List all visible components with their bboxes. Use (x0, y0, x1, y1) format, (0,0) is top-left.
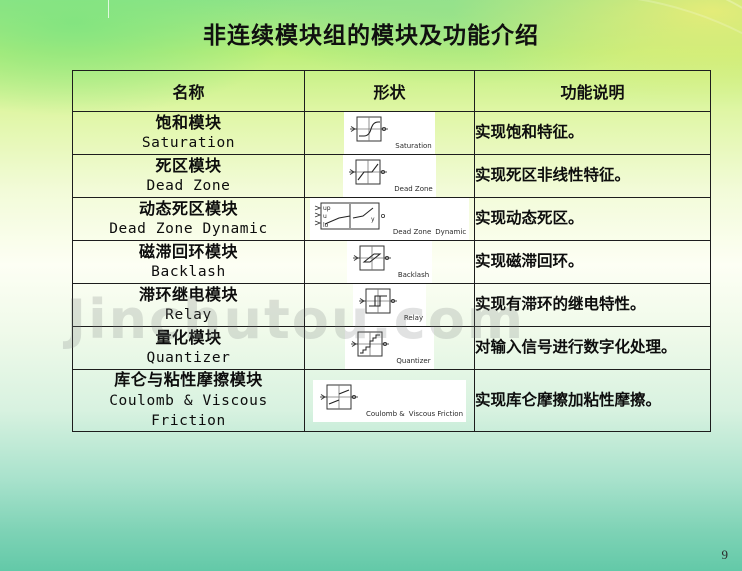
block-description-cell: 实现库仑摩擦加粘性摩擦。 (475, 370, 711, 432)
block-name-cn: 量化模块 (73, 328, 304, 348)
block-description-cell: 实现死区非线性特征。 (475, 155, 711, 198)
coulomb-viscous-friction-block: Coulomb & Viscous Friction (313, 380, 466, 422)
dead-zone-block: Dead Zone (343, 155, 435, 197)
block-icon-caption: Dead Zone (394, 185, 432, 193)
svg-text:y: y (371, 216, 375, 223)
block-name-cell: 滞环继电模块 Relay (73, 284, 305, 327)
block-name-cell: 动态死区模块 Dead Zone Dynamic (73, 198, 305, 241)
table-row: 动态死区模块 Dead Zone Dynamic up (73, 198, 711, 241)
saturation-block: Saturation (344, 112, 435, 154)
slide-canvas: 非连续模块组的模块及功能介绍 名称 形状 功能说明 饱和模块 Saturatio… (0, 0, 742, 571)
svg-text:u: u (323, 213, 327, 220)
block-icon-caption-line2: Viscous Friction (409, 410, 463, 418)
block-name-cn: 死区模块 (73, 156, 304, 176)
block-name-en: Dead Zone Dynamic (73, 220, 304, 239)
table-header-row: 名称 形状 功能说明 (73, 71, 711, 112)
block-icon-caption-line2: Dynamic (435, 228, 466, 236)
block-icon-caption: Saturation (395, 142, 432, 150)
block-icon-caption: Dead Zone (393, 228, 431, 236)
backlash-block-icon (350, 264, 398, 281)
block-name-en: Relay (73, 306, 304, 325)
block-description-cell: 对输入信号进行数字化处理。 (475, 327, 711, 370)
blocks-table: 名称 形状 功能说明 饱和模块 Saturation (72, 70, 711, 432)
table-row: 滞环继电模块 Relay (73, 284, 711, 327)
block-name-en: Coulomb & Viscous (73, 392, 304, 411)
column-header-name: 名称 (73, 71, 305, 112)
block-shape-cell: up u lo y Dead Zone (305, 198, 475, 241)
column-header-shape: 形状 (305, 71, 475, 112)
saturation-block-icon (347, 135, 395, 152)
block-icon-caption: Coulomb & (366, 410, 405, 418)
table-row: 饱和模块 Saturation (73, 112, 711, 155)
block-name-cn: 库仑与粘性摩擦模块 (73, 370, 304, 390)
dead-zone-dynamic-block-icon: up u lo y (313, 221, 393, 238)
dead-zone-dynamic-block: up u lo y Dead Zone (310, 198, 469, 240)
block-shape-cell: Coulomb & Viscous Friction (305, 370, 475, 432)
block-icon-caption: Relay (404, 314, 423, 322)
coulomb-viscous-friction-block-icon (316, 403, 366, 420)
table-row: 量化模块 Quantizer (73, 327, 711, 370)
blocks-table-wrapper: 名称 形状 功能说明 饱和模块 Saturation (72, 70, 710, 432)
block-name-en-line2: Friction (73, 412, 304, 431)
table-row: 库仑与粘性摩擦模块 Coulomb & Viscous Friction (73, 370, 711, 432)
svg-text:up: up (323, 205, 331, 212)
quantizer-block-icon (348, 350, 396, 367)
block-name-cell: 磁滞回环模块 Backlash (73, 241, 305, 284)
block-description-cell: 实现磁滞回环。 (475, 241, 711, 284)
block-name-cn: 动态死区模块 (73, 199, 304, 219)
block-description-cell: 实现饱和特征。 (475, 112, 711, 155)
block-name-cell: 死区模块 Dead Zone (73, 155, 305, 198)
block-shape-cell: Relay (305, 284, 475, 327)
block-description-cell: 实现有滞环的继电特性。 (475, 284, 711, 327)
table-row: 磁滞回环模块 Backlash (73, 241, 711, 284)
block-shape-cell: Quantizer (305, 327, 475, 370)
block-name-cn: 滞环继电模块 (73, 285, 304, 305)
block-icon-caption: Backlash (398, 271, 429, 279)
block-name-cn: 磁滞回环模块 (73, 242, 304, 262)
relay-block-icon (356, 307, 404, 324)
block-shape-cell: Dead Zone (305, 155, 475, 198)
page-number: 9 (722, 547, 729, 563)
block-icon-caption: Quantizer (396, 357, 430, 365)
quantizer-block: Quantizer (345, 327, 433, 369)
relay-block: Relay (353, 284, 426, 326)
block-name-en: Backlash (73, 263, 304, 282)
block-name-en: Dead Zone (73, 177, 304, 196)
block-name-en: Saturation (73, 134, 304, 153)
block-description-cell: 实现动态死区。 (475, 198, 711, 241)
block-shape-cell: Saturation (305, 112, 475, 155)
block-name-cn: 饱和模块 (73, 113, 304, 133)
page-title: 非连续模块组的模块及功能介绍 (0, 16, 742, 50)
backlash-block: Backlash (347, 241, 432, 283)
block-name-cell: 库仑与粘性摩擦模块 Coulomb & Viscous Friction (73, 370, 305, 432)
block-shape-cell: Backlash (305, 241, 475, 284)
table-row: 死区模块 Dead Zone (73, 155, 711, 198)
block-name-cell: 饱和模块 Saturation (73, 112, 305, 155)
dead-zone-block-icon (346, 178, 394, 195)
svg-text:lo: lo (323, 222, 329, 229)
column-header-desc: 功能说明 (475, 71, 711, 112)
block-name-cell: 量化模块 Quantizer (73, 327, 305, 370)
block-name-en: Quantizer (73, 349, 304, 368)
